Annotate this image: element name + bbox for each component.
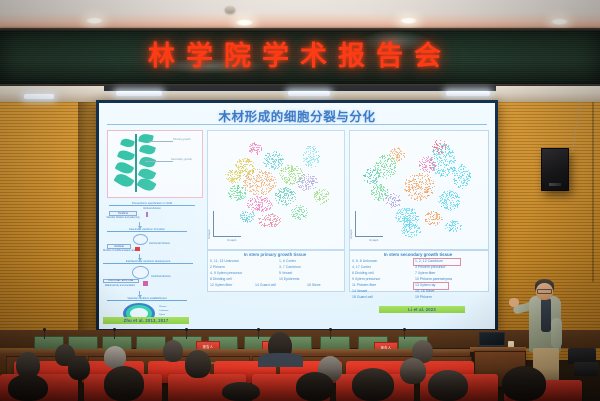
smoke-detector-icon	[225, 6, 235, 13]
umap-point	[231, 181, 232, 182]
umap-point	[439, 222, 440, 223]
umap-point	[245, 187, 246, 188]
umap-point	[293, 194, 294, 195]
umap-point	[391, 163, 392, 164]
umap-point	[383, 187, 384, 188]
umap-point	[270, 156, 271, 157]
umap-point	[250, 164, 251, 165]
umap-point	[270, 207, 271, 208]
umap-point	[430, 216, 431, 217]
umap-point	[456, 201, 457, 202]
umap-point	[419, 196, 420, 197]
umap-point	[441, 200, 442, 201]
umap-point	[278, 223, 279, 224]
umap-point	[427, 184, 428, 185]
umap-point	[301, 214, 302, 215]
umap-point	[447, 198, 448, 199]
umap-point	[325, 189, 326, 190]
umap-point	[326, 200, 327, 201]
umap-point	[429, 186, 430, 187]
umap-point	[452, 223, 453, 224]
umap-point	[273, 155, 274, 156]
umap-point	[462, 172, 463, 173]
umap-point	[231, 191, 232, 192]
umap-point	[454, 208, 455, 209]
legend-item: 4, 17 Cortex	[352, 265, 371, 269]
umap-point	[242, 198, 243, 199]
umap-point	[311, 167, 312, 168]
umap-point	[290, 195, 291, 196]
umap-point	[383, 177, 384, 178]
umap-point	[449, 149, 450, 150]
wall-speaker	[541, 148, 569, 191]
umap-point	[431, 169, 432, 170]
umap-point	[255, 169, 256, 170]
umap-point	[251, 191, 252, 192]
umap-point	[267, 209, 268, 210]
umap-point	[266, 158, 267, 159]
ring-legend: Xylem	[159, 314, 165, 316]
umap-point	[261, 225, 262, 226]
umap-point	[446, 195, 447, 196]
umap-point	[370, 176, 371, 177]
umap-point	[324, 190, 325, 191]
umap-point	[429, 224, 430, 225]
legend-item: 8 Dividing cell	[210, 277, 232, 281]
umap-point	[398, 210, 399, 211]
umap-point	[387, 189, 388, 190]
umap-point	[437, 223, 438, 224]
microphone	[44, 330, 45, 339]
umap-point	[394, 200, 395, 201]
umap-point	[470, 177, 471, 178]
umap-point	[256, 147, 257, 148]
umap-point	[450, 153, 451, 154]
umap-point	[461, 169, 462, 170]
umap-point	[313, 153, 314, 154]
umap-point	[322, 203, 323, 204]
umap-point	[408, 234, 409, 235]
ceiling-light	[86, 17, 103, 24]
umap-point	[290, 200, 291, 201]
umap-point	[262, 175, 263, 176]
umap-point	[434, 168, 435, 169]
umap-point	[431, 213, 432, 214]
umap-point	[430, 177, 431, 178]
umap-point	[439, 152, 440, 153]
umap-point	[308, 176, 309, 177]
umap-point	[432, 193, 433, 194]
umap-point	[457, 227, 458, 228]
umap-point	[415, 183, 416, 184]
umap-point	[252, 166, 253, 167]
umap-point	[407, 216, 408, 217]
umap-point	[372, 182, 373, 183]
umap-point	[437, 154, 438, 155]
umap-point	[266, 193, 267, 194]
umap-point	[418, 216, 419, 217]
umap-point	[390, 159, 391, 160]
umap-point	[292, 198, 293, 199]
umap-point	[255, 191, 256, 192]
umap-point	[291, 191, 292, 192]
umap-point	[388, 198, 389, 199]
umap-point	[262, 209, 263, 210]
umap-point	[271, 180, 272, 181]
umap-point	[234, 197, 235, 198]
umap-point	[290, 189, 291, 190]
umap-point	[271, 173, 272, 174]
umap-point	[434, 214, 435, 215]
umap-point	[412, 218, 413, 219]
umap-point	[228, 172, 229, 173]
umap-point	[288, 168, 289, 169]
umap-point	[283, 204, 284, 205]
flow-side-label-1: Anticlinal	[107, 244, 131, 249]
umap-point	[411, 226, 412, 227]
umap-point	[401, 221, 402, 222]
umap-point	[369, 178, 370, 179]
umap-point	[404, 153, 405, 154]
umap-point	[385, 195, 386, 196]
microphone	[186, 330, 187, 339]
umap-point	[459, 180, 460, 181]
umap-point	[281, 171, 282, 172]
umap-point	[275, 168, 276, 169]
umap-point	[427, 158, 428, 159]
umap-point	[300, 168, 301, 169]
umap-point	[406, 190, 407, 191]
umap-point	[240, 199, 241, 200]
umap-point	[439, 153, 440, 154]
umap-point	[367, 170, 368, 171]
flow-right-label-1: Horizontal division	[149, 242, 170, 245]
umap-point	[261, 183, 262, 184]
umap-point	[294, 173, 295, 174]
umap-point	[263, 192, 264, 193]
umap-point	[256, 204, 257, 205]
umap-point	[378, 177, 379, 178]
umap-point	[283, 169, 284, 170]
umap-point	[294, 183, 295, 184]
umap-point	[405, 210, 406, 211]
umap-point	[278, 160, 279, 161]
umap-point	[280, 191, 281, 192]
umap-point	[453, 162, 454, 163]
umap-point	[296, 215, 297, 216]
umap-point	[248, 160, 249, 161]
umap-point	[264, 208, 265, 209]
umap-point	[320, 198, 321, 199]
umap-point	[429, 180, 430, 181]
legend-item: 5 Vessel	[279, 271, 292, 275]
umap-point	[247, 221, 248, 222]
umap-point	[424, 189, 425, 190]
umap-point	[245, 166, 246, 167]
banner-top-edge	[0, 28, 600, 31]
umap-point	[287, 193, 288, 194]
umap-point	[447, 175, 448, 176]
umap-point	[295, 180, 296, 181]
umap-point	[304, 177, 305, 178]
umap-point	[381, 198, 382, 199]
umap-point	[437, 148, 438, 149]
umap-point	[389, 172, 390, 173]
umap-point	[374, 166, 375, 167]
umap-point	[402, 208, 403, 209]
umap-point	[412, 236, 413, 237]
umap-point	[415, 224, 416, 225]
umap-point	[411, 213, 412, 214]
umap-point	[294, 181, 295, 182]
umap-point	[433, 223, 434, 224]
umap-point	[386, 170, 387, 171]
umap-point	[307, 212, 308, 213]
umap-point	[458, 178, 459, 179]
umap-point	[251, 149, 252, 150]
umap-point	[454, 162, 455, 163]
umap-point	[314, 161, 315, 162]
umap-point	[230, 173, 231, 174]
umap-point	[459, 171, 460, 172]
umap-point	[234, 186, 235, 187]
umap-point	[445, 160, 446, 161]
umap-secondary-scatter	[349, 130, 487, 248]
umap-point	[253, 185, 254, 186]
umap-point	[454, 175, 455, 176]
umap-point	[394, 197, 395, 198]
umap-point	[263, 219, 264, 220]
umap-point	[374, 192, 375, 193]
umap-point	[233, 195, 234, 196]
umap-point	[422, 161, 423, 162]
umap-point	[247, 205, 248, 206]
soffit-lamp	[24, 94, 54, 99]
umap-point	[372, 190, 373, 191]
umap-point	[448, 199, 449, 200]
umap-point	[376, 194, 377, 195]
umap-point	[295, 175, 296, 176]
umap-point	[257, 169, 258, 170]
umap-point	[460, 186, 461, 187]
umap-point	[323, 202, 324, 203]
legend-item: 4, 9 Xylem precursor	[210, 271, 242, 275]
umap-point	[398, 220, 399, 221]
umap-point	[248, 177, 249, 178]
umap-point	[232, 194, 233, 195]
umap-point	[243, 171, 244, 172]
umap-point	[270, 208, 271, 209]
umap-point	[316, 152, 317, 153]
umap-point	[241, 168, 242, 169]
umap-point	[235, 171, 236, 172]
umap-point	[443, 146, 444, 147]
umap-point	[308, 166, 309, 167]
umap-point	[376, 179, 377, 180]
flow-step-5: Radial activity and orientation	[101, 285, 139, 287]
umap-point	[450, 230, 451, 231]
umap-point	[467, 184, 468, 185]
umap-point	[405, 213, 406, 214]
umap-point	[374, 199, 375, 200]
umap-point	[256, 188, 257, 189]
audience-head	[104, 346, 126, 368]
umap-point	[455, 160, 456, 161]
umap-point	[422, 159, 423, 160]
umap-point	[253, 149, 254, 150]
umap-point	[447, 146, 448, 147]
umap-point	[376, 163, 377, 164]
umap-point	[301, 186, 302, 187]
umap-point	[445, 147, 446, 148]
umap-point	[418, 188, 419, 189]
umap-point	[255, 182, 256, 183]
umap-point	[251, 152, 252, 153]
umap-point	[433, 154, 434, 155]
umap-point	[441, 158, 442, 159]
umap-point	[265, 210, 266, 211]
umap-point	[447, 161, 448, 162]
umap-point	[244, 217, 245, 218]
umap-point	[419, 193, 420, 194]
umap-point	[417, 188, 418, 189]
umap-point	[457, 195, 458, 196]
umap-point	[430, 160, 431, 161]
umap-point	[410, 189, 411, 190]
umap-point	[422, 181, 423, 182]
umap-point	[380, 184, 381, 185]
umap-point	[304, 190, 305, 191]
umap-point	[426, 198, 427, 199]
umap-point	[383, 198, 384, 199]
umap-point	[375, 183, 376, 184]
umap-point	[408, 226, 409, 227]
microphone	[404, 330, 405, 339]
umap-point	[380, 187, 381, 188]
umap-point	[265, 173, 266, 174]
umap-point	[420, 200, 421, 201]
umap-point	[324, 202, 325, 203]
umap-point	[419, 228, 420, 229]
umap-point	[414, 220, 415, 221]
umap-point	[265, 176, 266, 177]
umap-point	[292, 197, 293, 198]
umap-point	[401, 153, 402, 154]
umap-point	[416, 189, 417, 190]
umap-point	[375, 174, 376, 175]
umap-point	[267, 201, 268, 202]
umap-point	[299, 219, 300, 220]
umap-point	[430, 184, 431, 185]
speaker-hand	[509, 298, 519, 307]
umap-point	[258, 181, 259, 182]
umap-point	[408, 220, 409, 221]
umap-point	[238, 185, 239, 186]
umap-point	[310, 181, 311, 182]
umap-point	[243, 221, 244, 222]
flow-right-label-2: Anticlinal division	[151, 275, 171, 278]
umap-point	[269, 173, 270, 174]
umap-point	[389, 170, 390, 171]
umap-point	[450, 161, 451, 162]
umap-point	[434, 158, 435, 159]
ceiling-light	[236, 19, 253, 26]
umap-point	[418, 178, 419, 179]
umap-point	[409, 186, 410, 187]
umap-point	[269, 168, 270, 169]
umap-point	[262, 188, 263, 189]
umap-point	[298, 211, 299, 212]
flow-arrow	[139, 222, 140, 227]
umap-point	[246, 171, 247, 172]
umap-point	[249, 217, 250, 218]
umap-point	[276, 195, 277, 196]
umap-point	[429, 181, 430, 182]
umap-point	[279, 159, 280, 160]
umap-point	[248, 162, 249, 163]
umap-point	[441, 160, 442, 161]
umap-point	[417, 200, 418, 201]
umap-point	[438, 219, 439, 220]
umap-point	[439, 173, 440, 174]
umap-point	[285, 167, 286, 168]
umap-point	[399, 200, 400, 201]
umap-point	[287, 204, 288, 205]
umap-point	[467, 178, 468, 179]
umap-point	[238, 188, 239, 189]
umap-point	[291, 173, 292, 174]
umap-point	[313, 154, 314, 155]
umap-point	[250, 187, 251, 188]
umap-point	[260, 218, 261, 219]
umap-point	[424, 158, 425, 159]
umap-point	[416, 175, 417, 176]
umap-point	[433, 183, 434, 184]
umap-point	[284, 179, 285, 180]
umap-point	[261, 177, 262, 178]
umap-point	[288, 203, 289, 204]
umap-point	[386, 174, 387, 175]
umap-point	[245, 196, 246, 197]
umap-point	[379, 176, 380, 177]
umap-point	[409, 190, 410, 191]
umap-point	[405, 182, 406, 183]
umap-point	[449, 200, 450, 201]
umap-point	[264, 178, 265, 179]
umap-point	[256, 193, 257, 194]
umap-point	[304, 210, 305, 211]
umap-point	[385, 160, 386, 161]
legend-item: 9 Xylem precursor	[352, 277, 380, 281]
umap-point	[231, 172, 232, 173]
umap-point	[407, 218, 408, 219]
title-divider	[107, 124, 487, 125]
umap-point	[306, 210, 307, 211]
umap-point	[381, 165, 382, 166]
umap-point	[267, 175, 268, 176]
umap-point	[392, 153, 393, 154]
umap-point	[432, 146, 433, 147]
umap-point	[445, 156, 446, 157]
umap-point	[416, 222, 417, 223]
umap-point	[448, 173, 449, 174]
umap-point	[412, 185, 413, 186]
umap-point	[248, 179, 249, 180]
umap-point	[269, 159, 270, 160]
umap-point	[250, 213, 251, 214]
umap-point	[231, 198, 232, 199]
cell-diagram	[132, 266, 149, 279]
